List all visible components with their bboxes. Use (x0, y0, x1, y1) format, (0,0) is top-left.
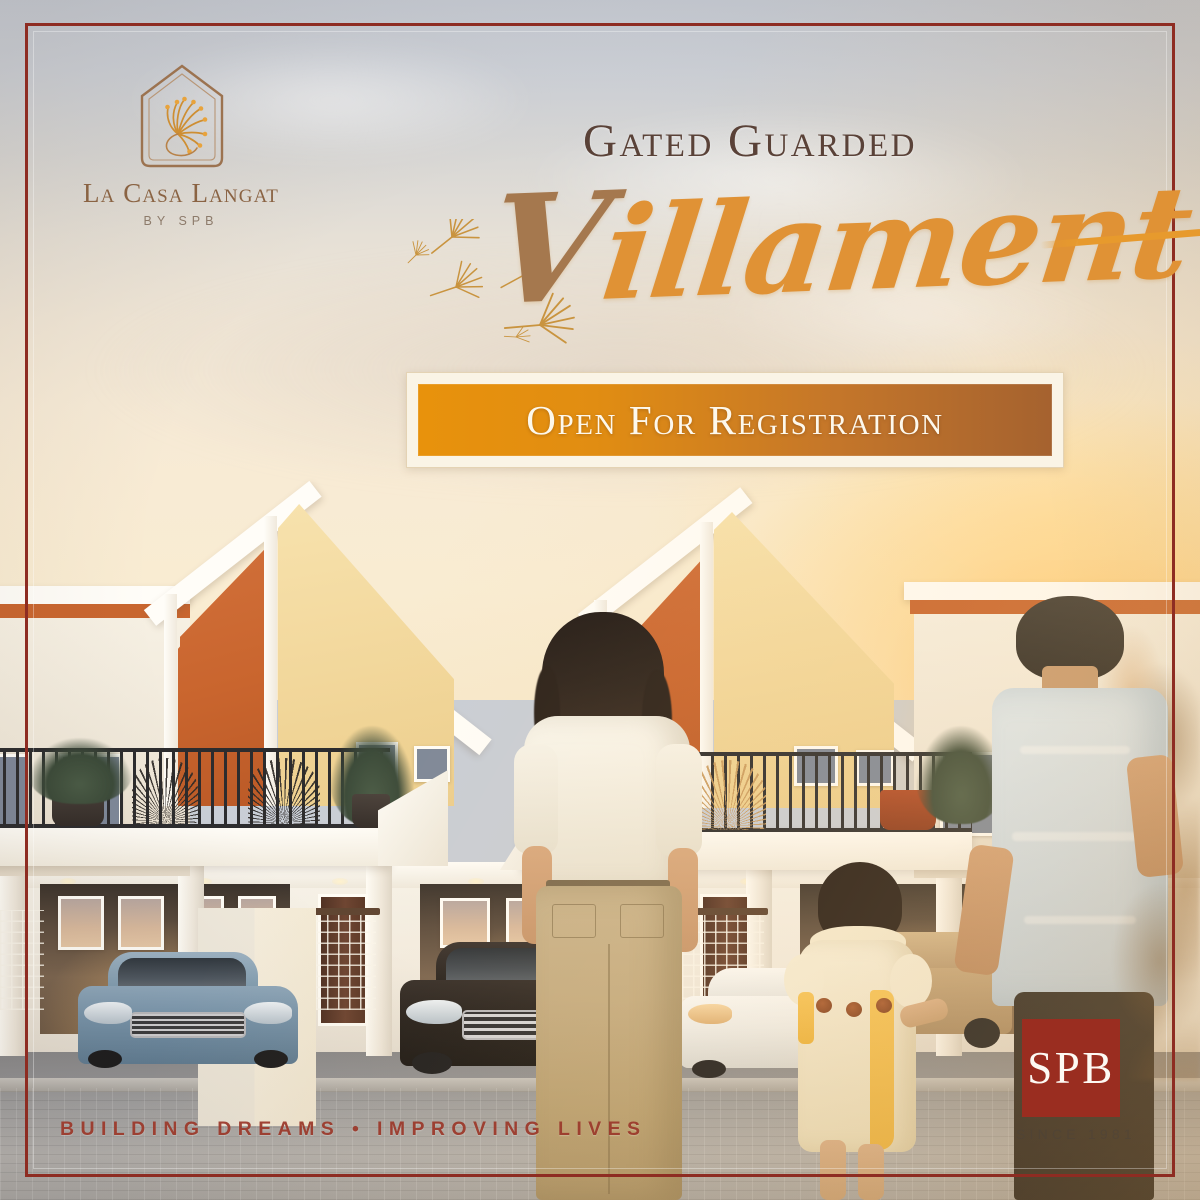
cta-label: Open For Registration (526, 396, 943, 444)
person-girl (784, 862, 934, 1200)
spb-since-text: SINCE 1981 (1016, 1126, 1156, 1142)
tagline: BUILDING DREAMS • IMPROVING LIVES (60, 1118, 646, 1141)
cta-gradient-fill: Open For Registration (418, 384, 1052, 456)
script-initial: V (480, 159, 616, 339)
mesh-fence (0, 910, 44, 1010)
balcony-plant (28, 738, 132, 804)
open-for-registration-banner[interactable]: Open For Registration (406, 372, 1064, 468)
balcony-chair (132, 758, 198, 824)
brand-title: La Casa Langat (56, 178, 306, 209)
spb-logo-badge[interactable]: SPB (1022, 1019, 1120, 1117)
person-woman (500, 612, 730, 1200)
car-blue-hatchback (78, 952, 298, 1068)
brand-logo[interactable]: La Casa Langat BY SPB (56, 62, 306, 247)
balcony-chair (248, 758, 320, 826)
spb-logo-text: SPB (1027, 1042, 1115, 1094)
house-dandelion-mark-icon (136, 62, 228, 172)
poster-canvas: La Casa Langat BY SPB Gated Guarded (0, 0, 1200, 1200)
script-rest: illament (595, 158, 1198, 330)
balcony-left (0, 826, 390, 866)
headline-script-wrap: Villament (400, 169, 1100, 349)
brand-subtitle: BY SPB (56, 214, 306, 228)
downlight (332, 878, 348, 885)
headline-block: Gated Guarded (400, 118, 1100, 349)
